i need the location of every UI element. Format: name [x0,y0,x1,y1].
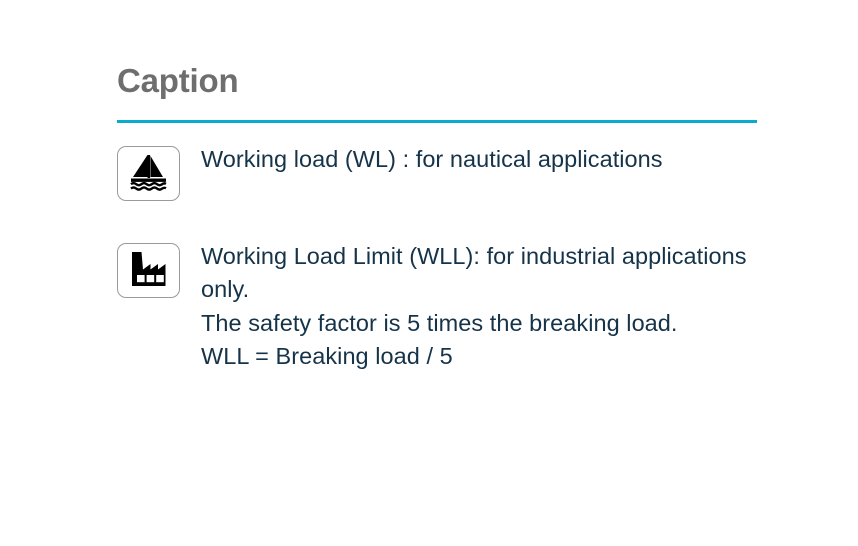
caption-content: Caption Working load (WL) : for nautical… [117,62,758,374]
page-title: Caption [117,62,758,100]
list-item-label: Working Load Limit (WLL): for industrial… [201,240,758,374]
sailboat-icon [117,146,180,201]
title-divider [117,120,757,123]
factory-icon [117,243,180,298]
list-item: Working Load Limit (WLL): for industrial… [117,240,758,374]
caption-entry-list: Working load (WL) : for nautical applica… [117,143,758,374]
list-item: Working load (WL) : for nautical applica… [117,143,758,201]
slide-canvas: Caption Working load (WL) : for nautical… [0,0,858,546]
list-item-label: Working load (WL) : for nautical applica… [201,143,663,177]
